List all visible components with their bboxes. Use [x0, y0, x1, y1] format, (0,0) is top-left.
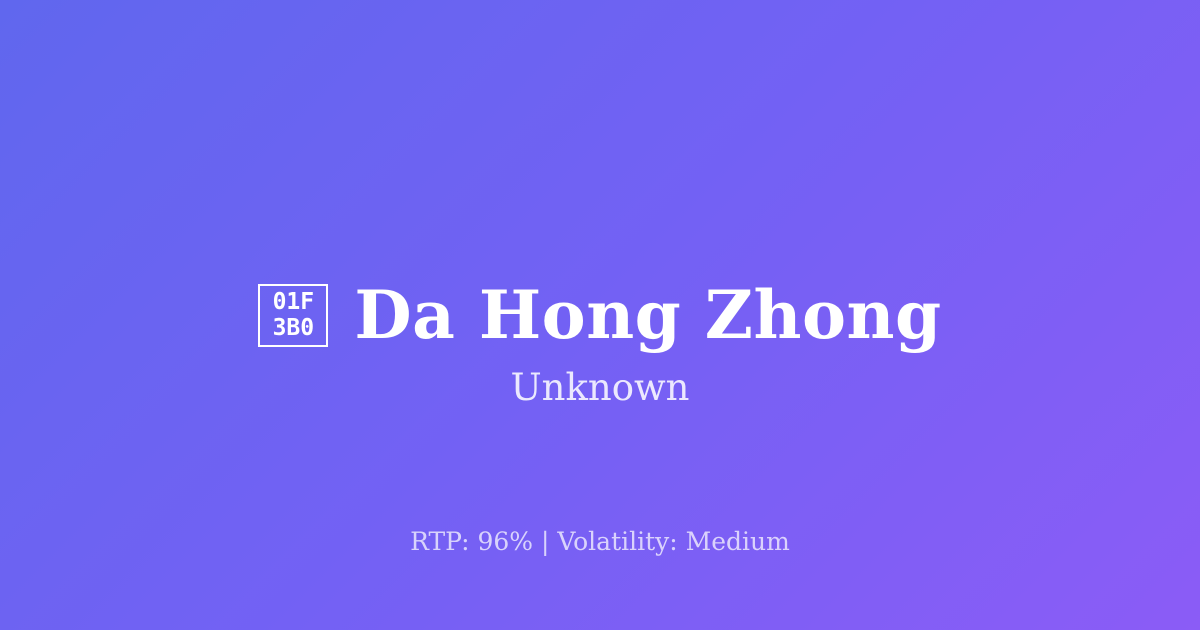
provider-label: Unknown	[0, 366, 1200, 410]
slot-machine-icon-codepoint-upper: 01F	[273, 289, 315, 315]
game-stats: RTP: 96% | Volatility: Medium	[0, 527, 1200, 557]
slot-machine-icon-codepoint-lower: 3B0	[273, 315, 315, 341]
slot-machine-icon: 01F 3B0	[258, 284, 328, 347]
game-preview-card: 01F 3B0 Da Hong Zhong Unknown RTP: 96% |…	[0, 0, 1200, 630]
page-title: Da Hong Zhong	[354, 276, 941, 354]
